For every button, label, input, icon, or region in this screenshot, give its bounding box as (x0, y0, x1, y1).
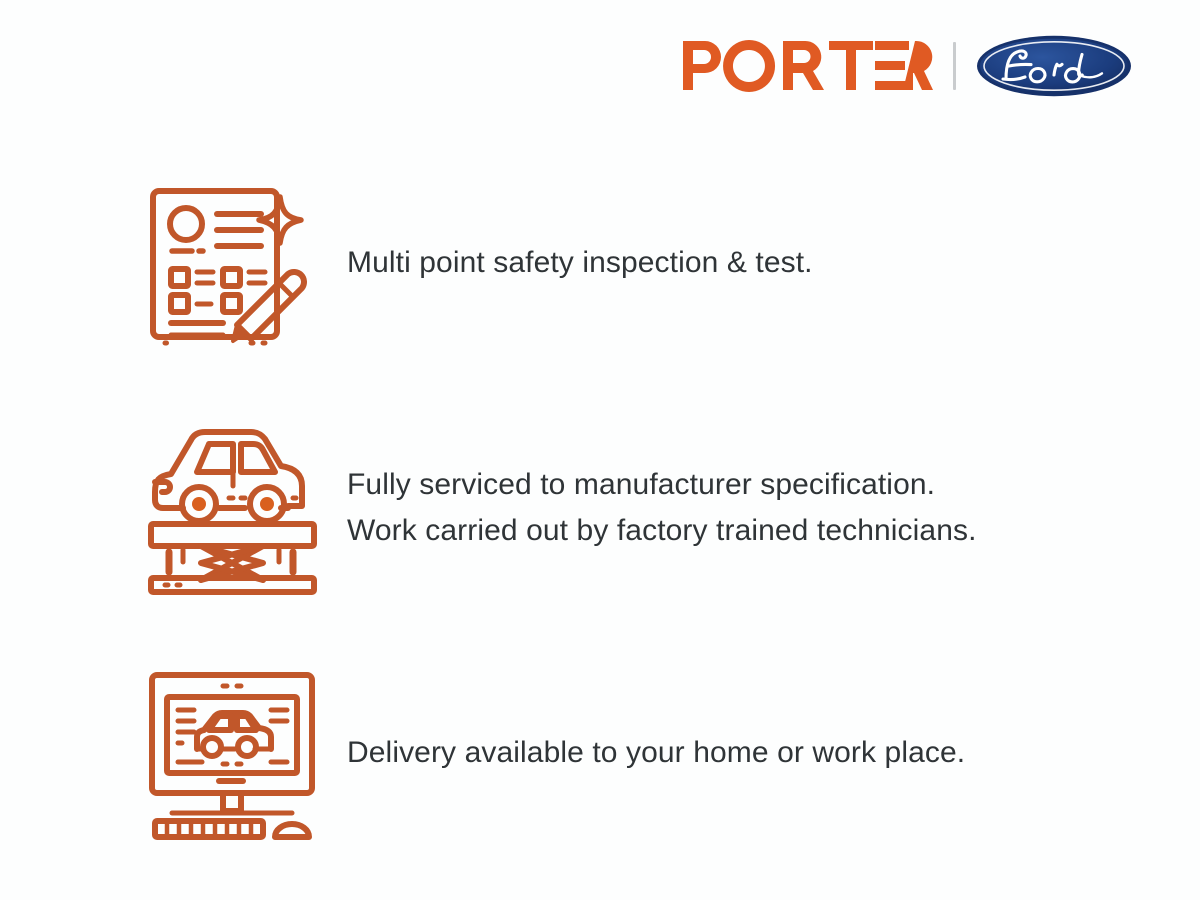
car-on-lift-icon (145, 418, 325, 598)
ford-logo[interactable] (976, 35, 1132, 97)
brand-lockup (683, 35, 1132, 97)
feature-text: Multi point safety inspection & test. (347, 240, 1200, 286)
monitor-car-delivery-icon (145, 663, 325, 843)
brand-header (0, 30, 1200, 102)
feature-row: Multi point safety inspection & test. (0, 140, 1200, 385)
porter-logo[interactable] (683, 38, 933, 94)
feature-text: Delivery available to your home or work … (347, 730, 1200, 776)
brand-divider (953, 42, 956, 90)
feature-row: Fully serviced to manufacturer specifica… (0, 385, 1200, 630)
feature-list: Multi point safety inspection & test. (0, 140, 1200, 875)
feature-row: Delivery available to your home or work … (0, 630, 1200, 875)
feature-text: Fully serviced to manufacturer specifica… (347, 462, 1200, 553)
inspection-checklist-icon (145, 173, 325, 353)
promo-page: Multi point safety inspection & test. (0, 0, 1200, 900)
